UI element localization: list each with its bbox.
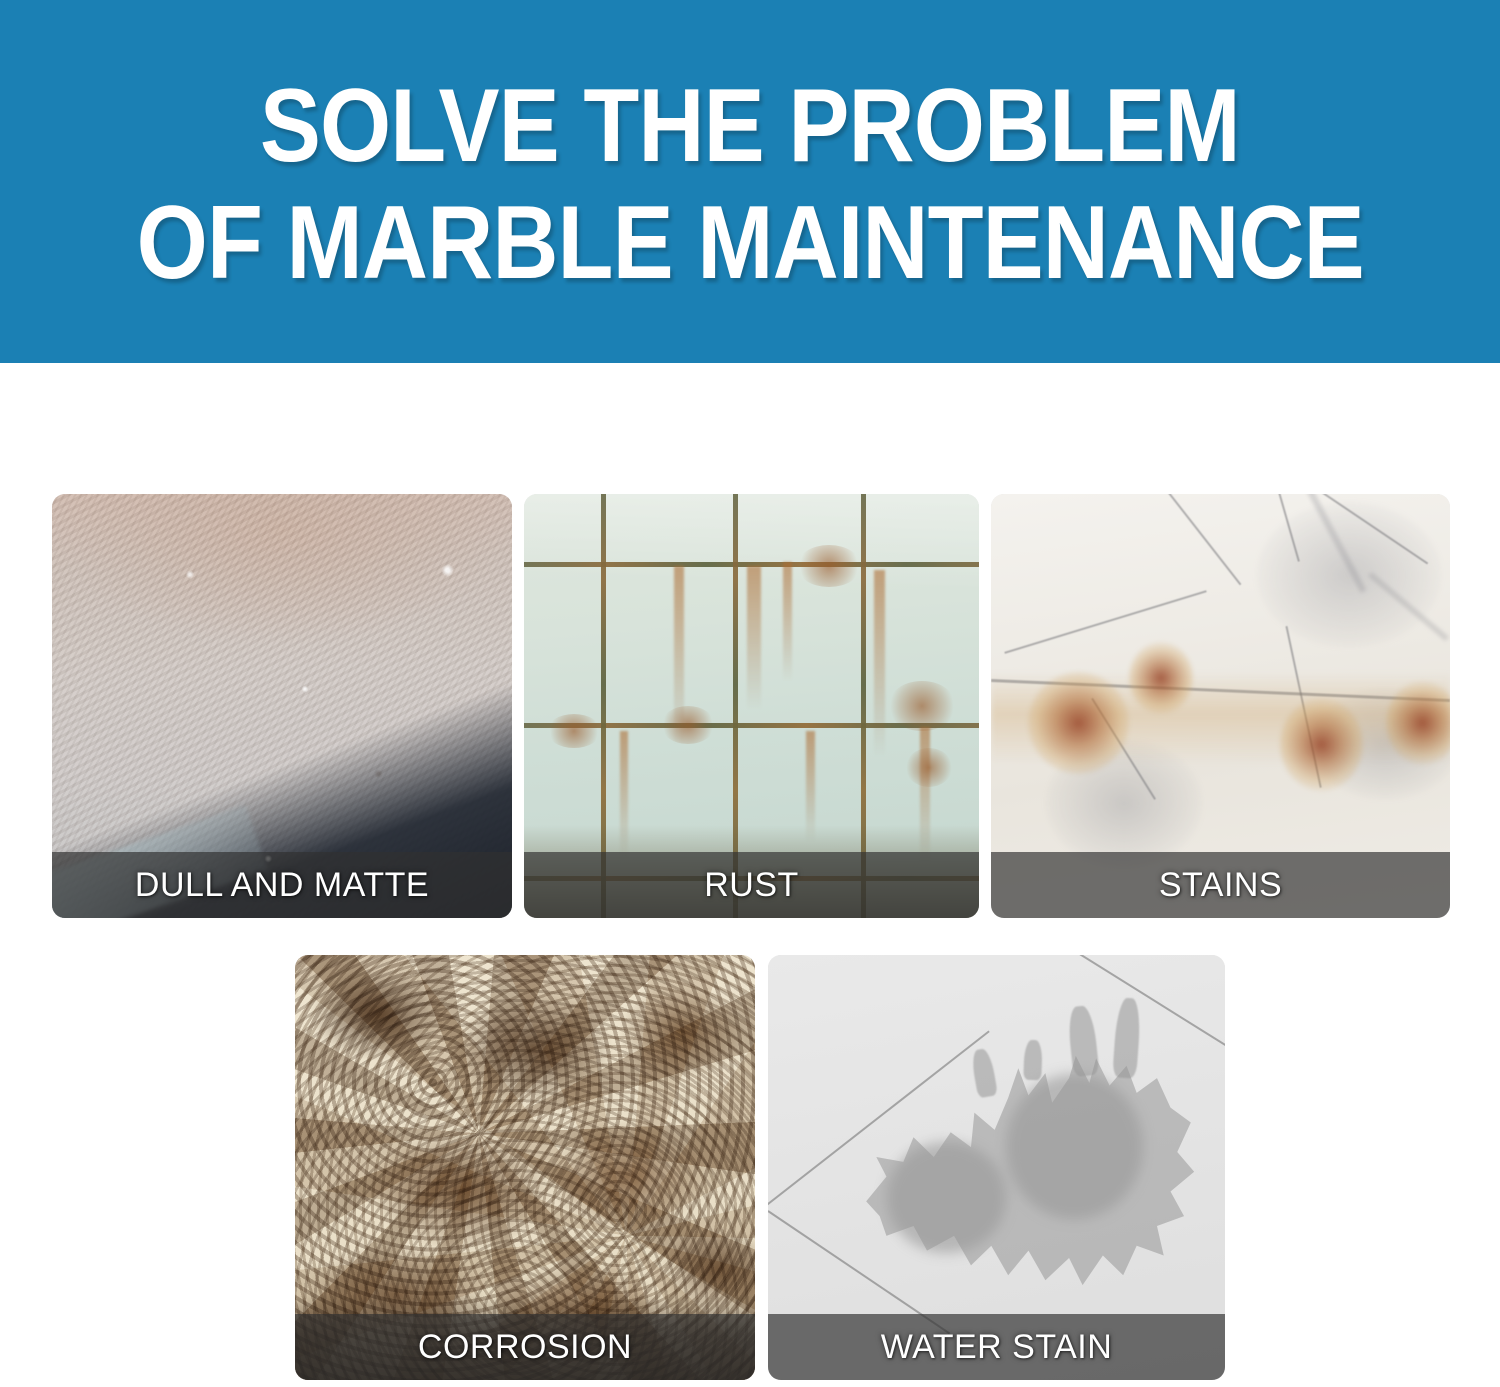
- problem-card-stains[interactable]: STAINS: [991, 494, 1450, 918]
- problem-card-label-stains: STAINS: [991, 852, 1450, 918]
- problem-card-rust[interactable]: RUST: [524, 494, 979, 918]
- problem-card-label-corrosion: CORROSION: [295, 1314, 755, 1380]
- banner-headline-line-2: OF MARBLE MAINTENANCE: [136, 185, 1363, 301]
- problem-cards-grid: DULL AND MATTE: [0, 363, 1500, 1387]
- problem-card-label-water-stain: WATER STAIN: [768, 1314, 1225, 1380]
- banner-headline-line-1: SOLVE THE PROBLEM: [260, 68, 1240, 184]
- problem-card-corrosion[interactable]: CORROSION: [295, 955, 755, 1380]
- problem-card-label-rust: RUST: [524, 852, 979, 918]
- header-banner: SOLVE THE PROBLEM OF MARBLE MAINTENANCE: [0, 0, 1500, 363]
- problem-card-label-dull-and-matte: DULL AND MATTE: [52, 852, 512, 918]
- problem-card-dull-and-matte[interactable]: DULL AND MATTE: [52, 494, 512, 918]
- problem-card-water-stain[interactable]: WATER STAIN: [768, 955, 1225, 1380]
